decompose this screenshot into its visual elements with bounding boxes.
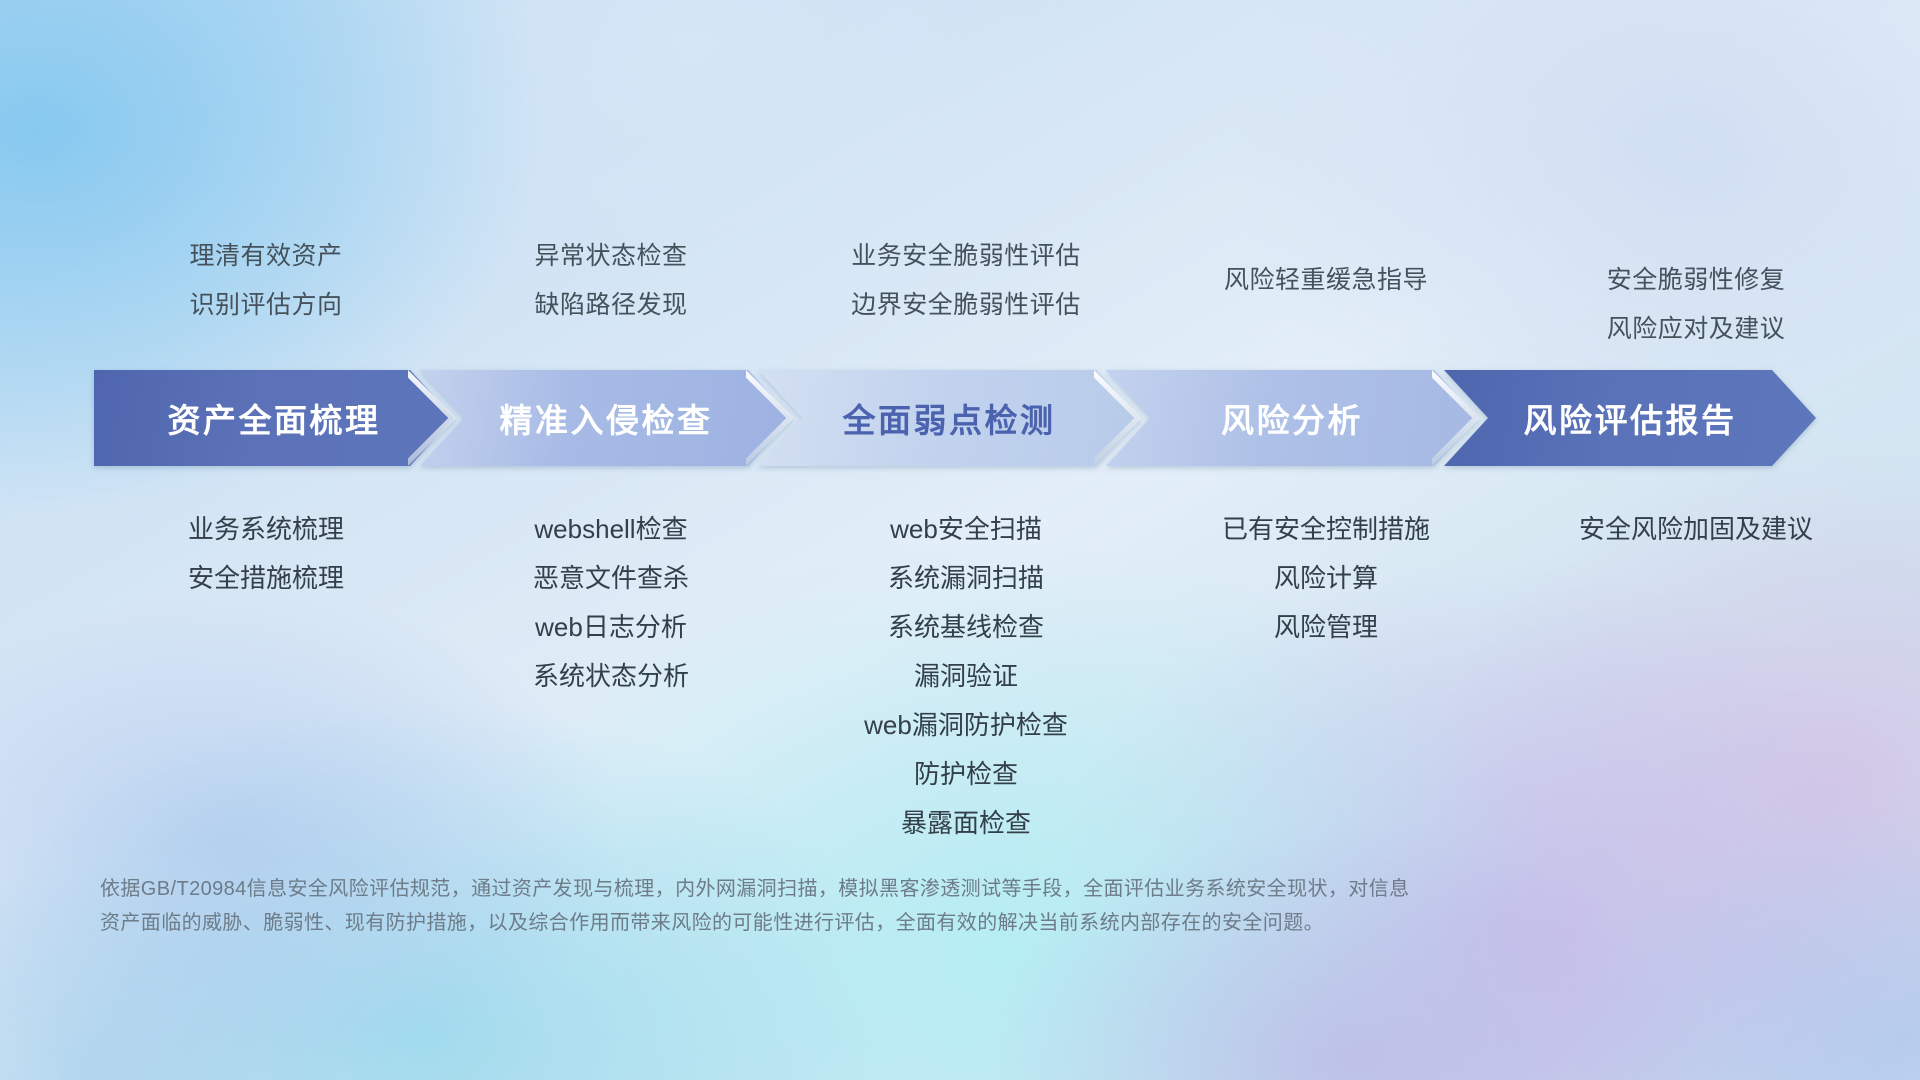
list-item: web日志分析 — [436, 603, 786, 652]
list-item: 安全风险加固及建议 — [1506, 505, 1886, 554]
list-item: web安全扫描 — [786, 505, 1146, 554]
infographic-stage: 理清有效资产 识别评估方向 异常状态检查 缺陷路径发现 业务安全脆弱性评估 边界… — [0, 0, 1920, 1080]
items-column-intrusion: webshell检查 恶意文件查杀 web日志分析 系统状态分析 — [436, 505, 786, 848]
items-column-weakness: web安全扫描 系统漏洞扫描 系统基线检查 漏洞验证 web漏洞防护检查 防护检… — [786, 505, 1146, 848]
top-note: 异常状态检查 — [436, 232, 786, 281]
list-item: 系统状态分析 — [436, 652, 786, 701]
list-item: 安全措施梳理 — [96, 554, 436, 603]
top-notes-row: 理清有效资产 识别评估方向 异常状态检查 缺陷路径发现 业务安全脆弱性评估 边界… — [96, 232, 1886, 354]
process-step-label: 风险分析 — [1221, 394, 1363, 442]
list-item: 风险管理 — [1146, 603, 1506, 652]
process-step-label: 风险评估报告 — [1524, 394, 1737, 442]
top-note: 缺陷路径发现 — [436, 281, 786, 330]
process-step-weakness[interactable]: 全面弱点检测 — [758, 370, 1140, 466]
list-item: web漏洞防护检查 — [786, 701, 1146, 750]
process-arrow-banner: 资产全面梳理 精准入侵检查 全面弱点检测 风险分析 风险评估报告 — [94, 370, 1836, 466]
footer-line-2: 资产面临的威胁、脆弱性、现有防护措施，以及综合作用而带来风险的可能性进行评估，全… — [100, 906, 1740, 940]
top-note: 业务安全脆弱性评估 — [786, 232, 1146, 281]
process-step-label: 资产全面梳理 — [168, 394, 381, 442]
list-item: 已有安全控制措施 — [1146, 505, 1506, 554]
top-note: 风险应对及建议 — [1506, 305, 1886, 354]
top-notes-column-risk-analysis: 风险轻重缓急指导 — [1146, 232, 1506, 354]
items-column-report: 安全风险加固及建议 — [1506, 505, 1886, 848]
items-column-asset: 业务系统梳理 安全措施梳理 — [96, 505, 436, 848]
top-notes-column-weakness: 业务安全脆弱性评估 边界安全脆弱性评估 — [786, 232, 1146, 354]
process-step-report[interactable]: 风险评估报告 — [1444, 370, 1816, 466]
top-notes-column-asset: 理清有效资产 识别评估方向 — [96, 232, 436, 354]
top-note: 理清有效资产 — [96, 232, 436, 281]
process-step-risk-analysis[interactable]: 风险分析 — [1106, 370, 1478, 466]
list-item: 系统漏洞扫描 — [786, 554, 1146, 603]
top-note: 安全脆弱性修复 — [1506, 256, 1886, 305]
items-column-risk-analysis: 已有安全控制措施 风险计算 风险管理 — [1146, 505, 1506, 848]
process-step-asset[interactable]: 资产全面梳理 — [94, 370, 454, 466]
list-item: 暴露面检查 — [786, 799, 1146, 848]
bottom-items-row: 业务系统梳理 安全措施梳理 webshell检查 恶意文件查杀 web日志分析 … — [96, 505, 1886, 848]
list-item: 业务系统梳理 — [96, 505, 436, 554]
list-item: webshell检查 — [436, 505, 786, 554]
list-item: 系统基线检查 — [786, 603, 1146, 652]
process-step-label: 全面弱点检测 — [843, 394, 1056, 442]
top-note: 识别评估方向 — [96, 281, 436, 330]
footer-description: 依据GB/T20984信息安全风险评估规范，通过资产发现与梳理，内外网漏洞扫描，… — [100, 872, 1740, 940]
list-item: 防护检查 — [786, 750, 1146, 799]
top-note: 边界安全脆弱性评估 — [786, 281, 1146, 330]
top-note: 风险轻重缓急指导 — [1146, 256, 1506, 305]
footer-line-1: 依据GB/T20984信息安全风险评估规范，通过资产发现与梳理，内外网漏洞扫描，… — [100, 872, 1740, 906]
list-item: 风险计算 — [1146, 554, 1506, 603]
list-item: 恶意文件查杀 — [436, 554, 786, 603]
top-notes-column-report: 安全脆弱性修复 风险应对及建议 — [1506, 232, 1886, 354]
list-item: 漏洞验证 — [786, 652, 1146, 701]
process-step-label: 精准入侵检查 — [500, 394, 713, 442]
process-step-intrusion[interactable]: 精准入侵检查 — [420, 370, 792, 466]
top-notes-column-intrusion: 异常状态检查 缺陷路径发现 — [436, 232, 786, 354]
